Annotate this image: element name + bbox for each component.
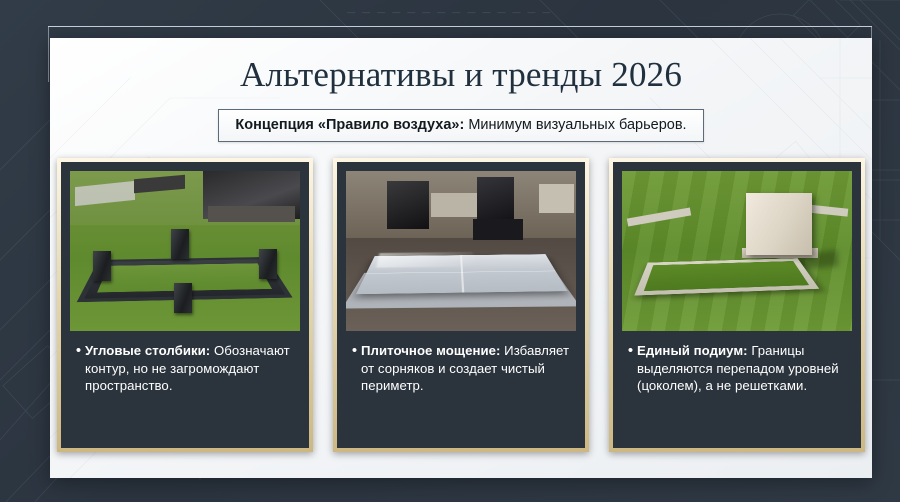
bullet-icon: • bbox=[624, 342, 637, 448]
bullet-icon: • bbox=[72, 342, 85, 448]
card-caption: • Единый подиум: Границы выделяются пере… bbox=[622, 331, 852, 448]
concept-label: Концепция «Правило воздуха»: bbox=[235, 117, 464, 133]
caption-text: Единый подиум: Границы выделяются перепа… bbox=[637, 342, 848, 448]
page-title: Альтернативы и тренды 2026 bbox=[50, 55, 872, 95]
card-body: • Угловые столбики: Обозначают контур, н… bbox=[61, 162, 309, 448]
card-body: • Плиточное мощение: Избавляет от сорняк… bbox=[337, 162, 585, 448]
concept-banner-wrapper: Концепция «Правило воздуха»: Минимум виз… bbox=[50, 109, 872, 142]
card-body: • Единый подиум: Границы выделяются пере… bbox=[613, 162, 861, 448]
cards-row: • Угловые столбики: Обозначают контур, н… bbox=[50, 158, 872, 452]
caption-heading: Плиточное мощение: bbox=[361, 343, 500, 358]
concept-text: Минимум визуальных барьеров. bbox=[464, 117, 686, 133]
concept-banner: Концепция «Правило воздуха»: Минимум виз… bbox=[218, 109, 703, 142]
single-podium-headstone-photo bbox=[622, 171, 852, 331]
bullet-icon: • bbox=[348, 342, 361, 448]
card-corner-posts: • Угловые столбики: Обозначают контур, н… bbox=[57, 158, 313, 452]
lawn-plot-with-corner-posts-photo bbox=[70, 171, 300, 331]
caption-text: Плиточное мощение: Избавляет от сорняков… bbox=[361, 342, 572, 448]
masthead-watermark-text: — — — — — — — — — — — — — — bbox=[0, 8, 900, 17]
caption-heading: Угловые столбики: bbox=[85, 343, 210, 358]
card-caption: • Угловые столбики: Обозначают контур, н… bbox=[70, 331, 300, 448]
caption-text: Угловые столбики: Обозначают контур, но … bbox=[85, 342, 296, 448]
card-caption: • Плиточное мощение: Избавляет от сорняк… bbox=[346, 331, 576, 448]
card-single-podium: • Единый подиум: Границы выделяются пере… bbox=[609, 158, 865, 452]
card-tiled-paving: • Плиточное мощение: Избавляет от сорняк… bbox=[333, 158, 589, 452]
slide-panel: Альтернативы и тренды 2026 Концепция «Пр… bbox=[50, 38, 872, 478]
caption-heading: Единый подиум: bbox=[637, 343, 748, 358]
granite-tiled-platform-photo bbox=[346, 171, 576, 331]
